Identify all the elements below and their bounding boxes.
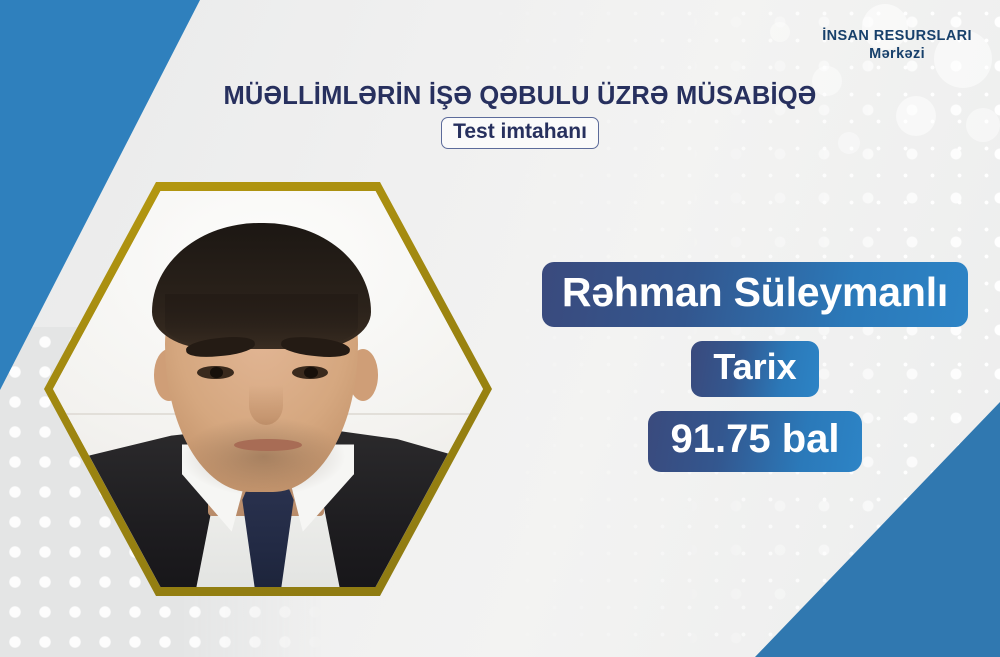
organization-logo: İNSAN RESURSLARI Mərkəzi	[822, 27, 972, 63]
portrait-nose	[249, 385, 283, 425]
portrait-mouth	[234, 439, 303, 452]
hexagon-photo-clip	[53, 191, 483, 587]
candidate-photo-hexagon	[44, 182, 492, 596]
candidate-score-badge: 91.75 bal	[648, 411, 861, 472]
logo-line-1: İNSAN RESURSLARI	[822, 28, 972, 44]
candidate-name-badge: Rəhman Süleymanlı	[542, 262, 968, 327]
logo-line-2: Mərkəzi	[822, 45, 972, 63]
candidate-portrait-image	[53, 191, 483, 587]
subtitle-pill: Test imtahanı	[441, 117, 599, 149]
candidate-info-badges: Rəhman Süleymanlı Tarix 91.75 bal	[540, 262, 970, 472]
candidate-subject-badge: Tarix	[691, 341, 818, 397]
portrait-stubble	[182, 417, 345, 496]
subtitle-pill-wrapper: Test imtahanı	[150, 117, 890, 149]
page-title: MÜƏLLİMLƏRİN İŞƏ QƏBULU ÜZRƏ MÜSABİQƏ	[150, 82, 890, 111]
poster-canvas: İNSAN RESURSLARI Mərkəzi MÜƏLLİMLƏRİN İŞ…	[0, 0, 1000, 657]
